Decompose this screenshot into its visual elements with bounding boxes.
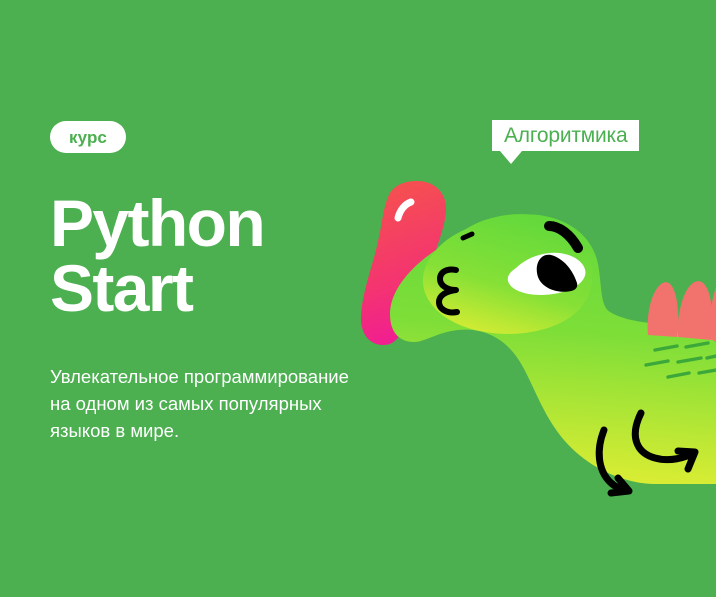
tongue-highlight xyxy=(398,202,411,218)
back-leg xyxy=(599,430,629,493)
course-badge: курс xyxy=(50,121,126,153)
course-banner: курс Алгоритмика Python Start Увлекатель… xyxy=(0,0,716,597)
scale-dashes xyxy=(646,343,716,377)
tongue-shape xyxy=(361,181,465,345)
brand-logo-notch-icon xyxy=(500,151,522,164)
page-title: Python Start xyxy=(50,191,264,320)
eyebrow xyxy=(549,226,578,248)
brand-logo: Алгоритмика xyxy=(492,120,639,151)
page-subtitle: Увлекательное программирование на одном … xyxy=(50,363,480,445)
eye-white xyxy=(508,253,586,295)
eye-pupil xyxy=(537,255,577,292)
brand-logo-label: Алгоритмика xyxy=(504,125,627,146)
dinosaur-head xyxy=(423,214,593,334)
back-spikes xyxy=(648,281,716,342)
mouth-curl xyxy=(439,269,457,312)
front-leg xyxy=(635,413,695,469)
course-badge-label: курс xyxy=(69,129,107,146)
nostril xyxy=(463,234,472,238)
